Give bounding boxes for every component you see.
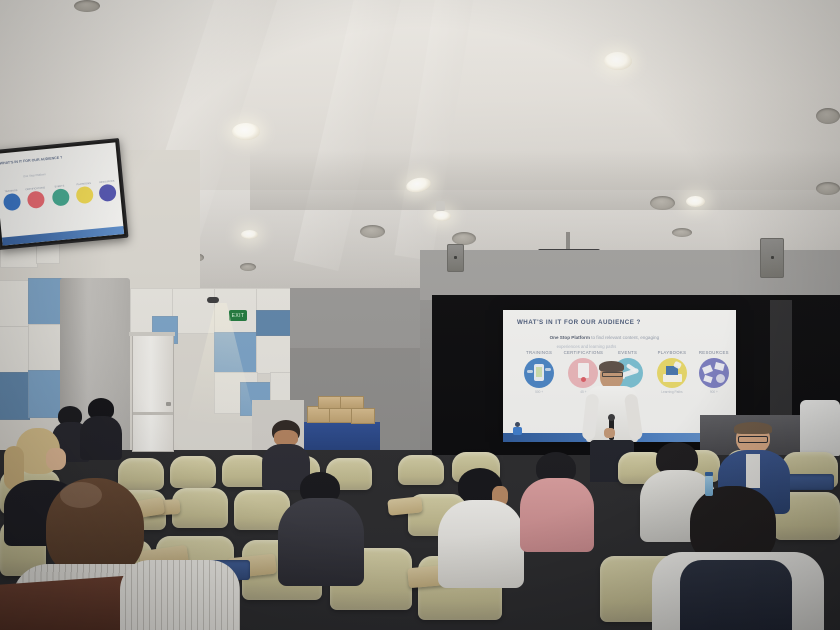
category-label: RESOURCES: [692, 350, 736, 355]
water-bottle-cap: [705, 472, 713, 476]
microphone-head-icon: [608, 414, 615, 421]
wall-speaker: [760, 238, 784, 278]
ceiling-light-off: [240, 263, 256, 271]
slide-category-resources: RESOURCES 900 +: [692, 350, 736, 394]
ceiling-light-off: [360, 225, 385, 238]
slide-category-playbooks: PLAYBOOKS Learning Paths: [650, 350, 694, 394]
tv-category-events: EVENTS: [47, 184, 73, 207]
cardboard-box: [351, 408, 375, 424]
water-bottle[interactable]: [705, 476, 713, 496]
slide-title: WHAT'S IN IT FOR OUR AUDIENCE ?: [517, 319, 641, 326]
exit-sign-label: EXIT: [232, 313, 245, 319]
white-chair: [800, 400, 840, 456]
slide-subtitle-line2: experiences and learning paths: [557, 344, 617, 349]
ceiling-light-off: [816, 108, 840, 124]
exit-sign: EXIT: [229, 310, 247, 321]
trainings-icon: [524, 358, 554, 388]
presenter-hair: [599, 361, 624, 372]
ceiling-light-on: [232, 123, 260, 140]
waistcoat: [680, 560, 792, 630]
tv-category-playbooks: PLAYBOOKS: [71, 181, 97, 204]
slide-subtitle: One Stop Platform to find relevant conte…: [550, 335, 660, 340]
resources-icon: [699, 358, 729, 388]
slide-category-trainings: TRAININGS 500 +: [517, 350, 561, 394]
cardboard-box: [318, 396, 342, 409]
wall-spotlight: [207, 297, 219, 303]
back-table: [302, 422, 380, 450]
ceiling-light-off: [816, 182, 840, 195]
ceiling-light-off: [672, 228, 692, 237]
wall-speaker: [447, 244, 464, 272]
slide-subtitle-rest: to find relevant content, engaging: [591, 335, 659, 340]
presenter-glasses-icon: [602, 372, 623, 377]
seat[interactable]: [170, 456, 216, 488]
glasses-icon: [738, 436, 768, 443]
door-frame: [129, 332, 175, 336]
tv-slide-title: WHAT'S IN IT FOR OUR AUDIENCE ?: [0, 156, 63, 166]
category-label: TRAININGS: [517, 350, 561, 355]
ceiling-light-off: [650, 196, 675, 210]
tv-slide-subtitle: One Stop Platform: [23, 172, 46, 178]
presenter-hand: [604, 428, 615, 438]
category-label: EVENTS: [606, 350, 650, 355]
ceiling-light-off: [74, 0, 100, 12]
door-handle[interactable]: [166, 402, 171, 406]
room-door[interactable]: [132, 335, 174, 452]
category-caption: 500 +: [517, 390, 561, 394]
conference-room-photo: EXIT WHAT'S IN IT FOR OUR AUDIENCE ? One…: [0, 0, 840, 630]
ceiling-light-on: [241, 230, 258, 239]
smoke-detector-icon: [436, 201, 445, 211]
tv-screen: WHAT'S IN IT FOR OUR AUDIENCE ? One Stop…: [0, 142, 124, 245]
tv-category-resources: RESOURCES: [95, 179, 121, 202]
category-label: PLAYBOOKS: [650, 350, 694, 355]
mid-wall-panel: [290, 288, 420, 348]
tv-category-certifications: CERTIFICATIONS: [23, 186, 49, 209]
category-caption: Learning Paths: [650, 390, 694, 394]
ceiling-light-on: [686, 196, 705, 207]
playbooks-icon: [657, 358, 687, 388]
seat[interactable]: [398, 455, 444, 485]
category-caption: 900 +: [692, 390, 736, 394]
ceiling-light-on: [604, 52, 632, 70]
seat[interactable]: [172, 488, 228, 528]
category-label: CERTIFICATIONS: [561, 350, 605, 355]
slide-footer-avatar: [512, 422, 523, 437]
ceiling-light-on: [433, 211, 451, 221]
wall-mounted-tv: WHAT'S IN IT FOR OUR AUDIENCE ? One Stop…: [0, 138, 128, 250]
slide-subtitle-lead: One Stop Platform: [550, 335, 590, 340]
seat[interactable]: [118, 458, 164, 490]
cardboard-box: [340, 396, 364, 409]
tv-category-trainings: TRAININGS: [0, 188, 25, 211]
